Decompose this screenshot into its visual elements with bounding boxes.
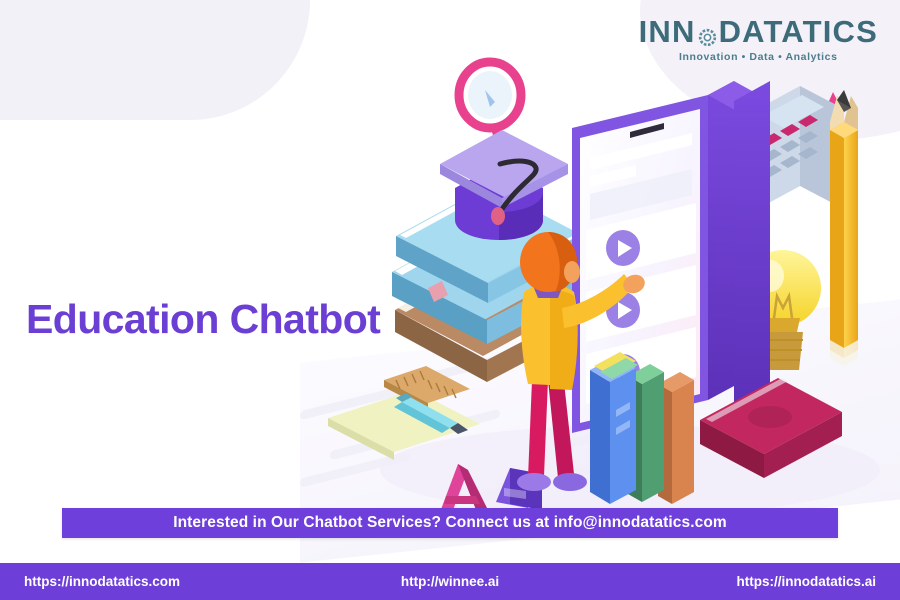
poster-canvas: INN DATATICS Innovation • Data • Analyti… xyxy=(0,0,900,600)
cta-banner[interactable]: Interested in Our Chatbot Services? Conn… xyxy=(62,508,838,538)
pencil-icon xyxy=(830,90,858,366)
background-shape-top-left xyxy=(0,0,310,120)
footer-link-1[interactable]: https://innodatatics.com xyxy=(0,574,308,589)
cta-text: Interested in Our Chatbot Services? Conn… xyxy=(173,514,727,532)
standing-books-icon xyxy=(590,352,694,504)
footer-link-3[interactable]: https://innodatatics.ai xyxy=(592,574,900,589)
education-illustration xyxy=(300,40,900,520)
footer-bar: https://innodatatics.com http://winnee.a… xyxy=(0,563,900,600)
footer-link-2[interactable]: http://winnee.ai xyxy=(308,574,592,589)
page-title: Education Chatbot xyxy=(26,296,380,343)
